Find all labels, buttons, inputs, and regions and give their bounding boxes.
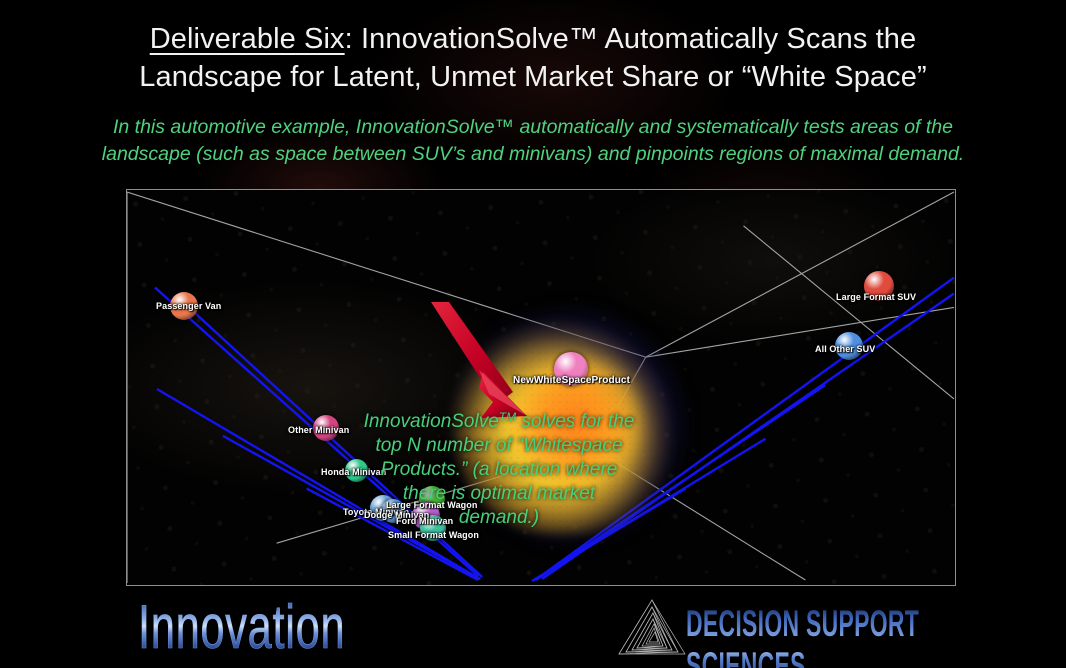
company-name: DECISION SUPPORT SCIENCES: [686, 603, 922, 668]
title-emphasis: Deliverable Six: [150, 23, 345, 55]
whitespace-callout: InnovationSolveTM solves for the top N n…: [349, 405, 649, 530]
slide-root: Deliverable Six: InnovationSolve™ Automa…: [0, 0, 1066, 668]
subtitle-line-1: In this automotive example, InnovationSo…: [0, 114, 1066, 141]
callout-line-5: demand.): [349, 506, 649, 530]
callout-line-2: top N number of “Whitespace: [349, 434, 649, 458]
data-point-label: All Other SUV: [815, 344, 875, 354]
data-point-label: Large Format SUV: [836, 292, 916, 302]
callout-line-3: Products.” (a location where: [349, 458, 649, 482]
data-point-label: Other Minivan: [288, 425, 349, 435]
title-line-1: Deliverable Six: InnovationSolve™ Automa…: [0, 20, 1066, 58]
chart-panel[interactable]: InnovationSolveTM solves for the top N n…: [126, 189, 956, 586]
title-rest: : InnovationSolve™ Automatically Scans t…: [345, 23, 917, 55]
title-line-2: Landscape for Latent, Unmet Market Share…: [0, 58, 1066, 96]
page-subtitle: In this automotive example, InnovationSo…: [0, 114, 1066, 168]
innovation-logo: Innovation: [138, 592, 345, 663]
red-arrow-shape: [431, 302, 527, 418]
callout-line-1: InnovationSolveTM solves for the: [349, 405, 649, 434]
callout-line-4: there is optimal market: [349, 482, 649, 506]
data-point-label: Passenger Van: [156, 301, 221, 311]
triangle-spiral-logo-icon: [616, 597, 688, 657]
callout-tm: TM: [499, 410, 516, 424]
subtitle-line-2: landscape (such as space between SUV’s a…: [0, 141, 1066, 168]
footer: Innovation DECISION SUPPORT SCIENCES: [0, 586, 1066, 668]
data-point-label: Small Format Wagon: [388, 530, 479, 540]
page-title: Deliverable Six: InnovationSolve™ Automa…: [0, 20, 1066, 96]
